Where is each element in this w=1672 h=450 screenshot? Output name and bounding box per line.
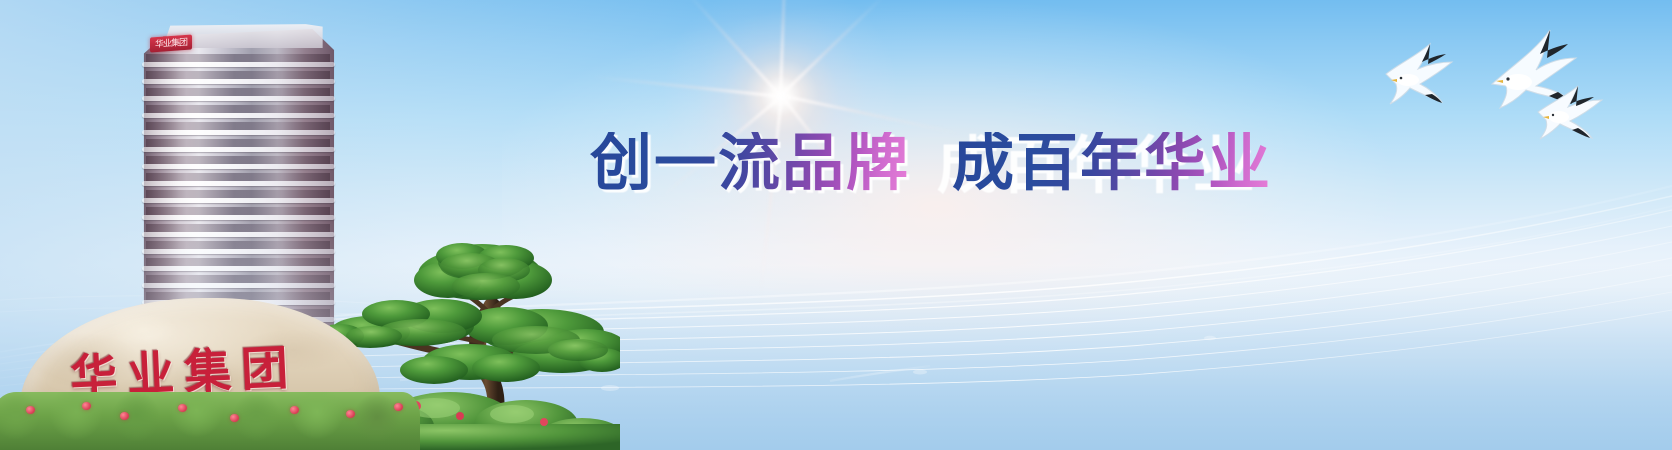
flowering-hedge [0,392,420,450]
tower-rooftop-sign: 华业集团 [150,35,192,53]
seagull-flock [1372,0,1672,140]
company-banner: 华业集团 [0,0,1672,450]
slogan-phrase-1: 创一流品牌 [590,132,910,194]
slogan-headline: 创一流品牌 成百年华业 [590,132,1272,194]
seagull-icon [1386,44,1452,104]
slogan-phrase-2: 成百年华业 [952,132,1272,194]
